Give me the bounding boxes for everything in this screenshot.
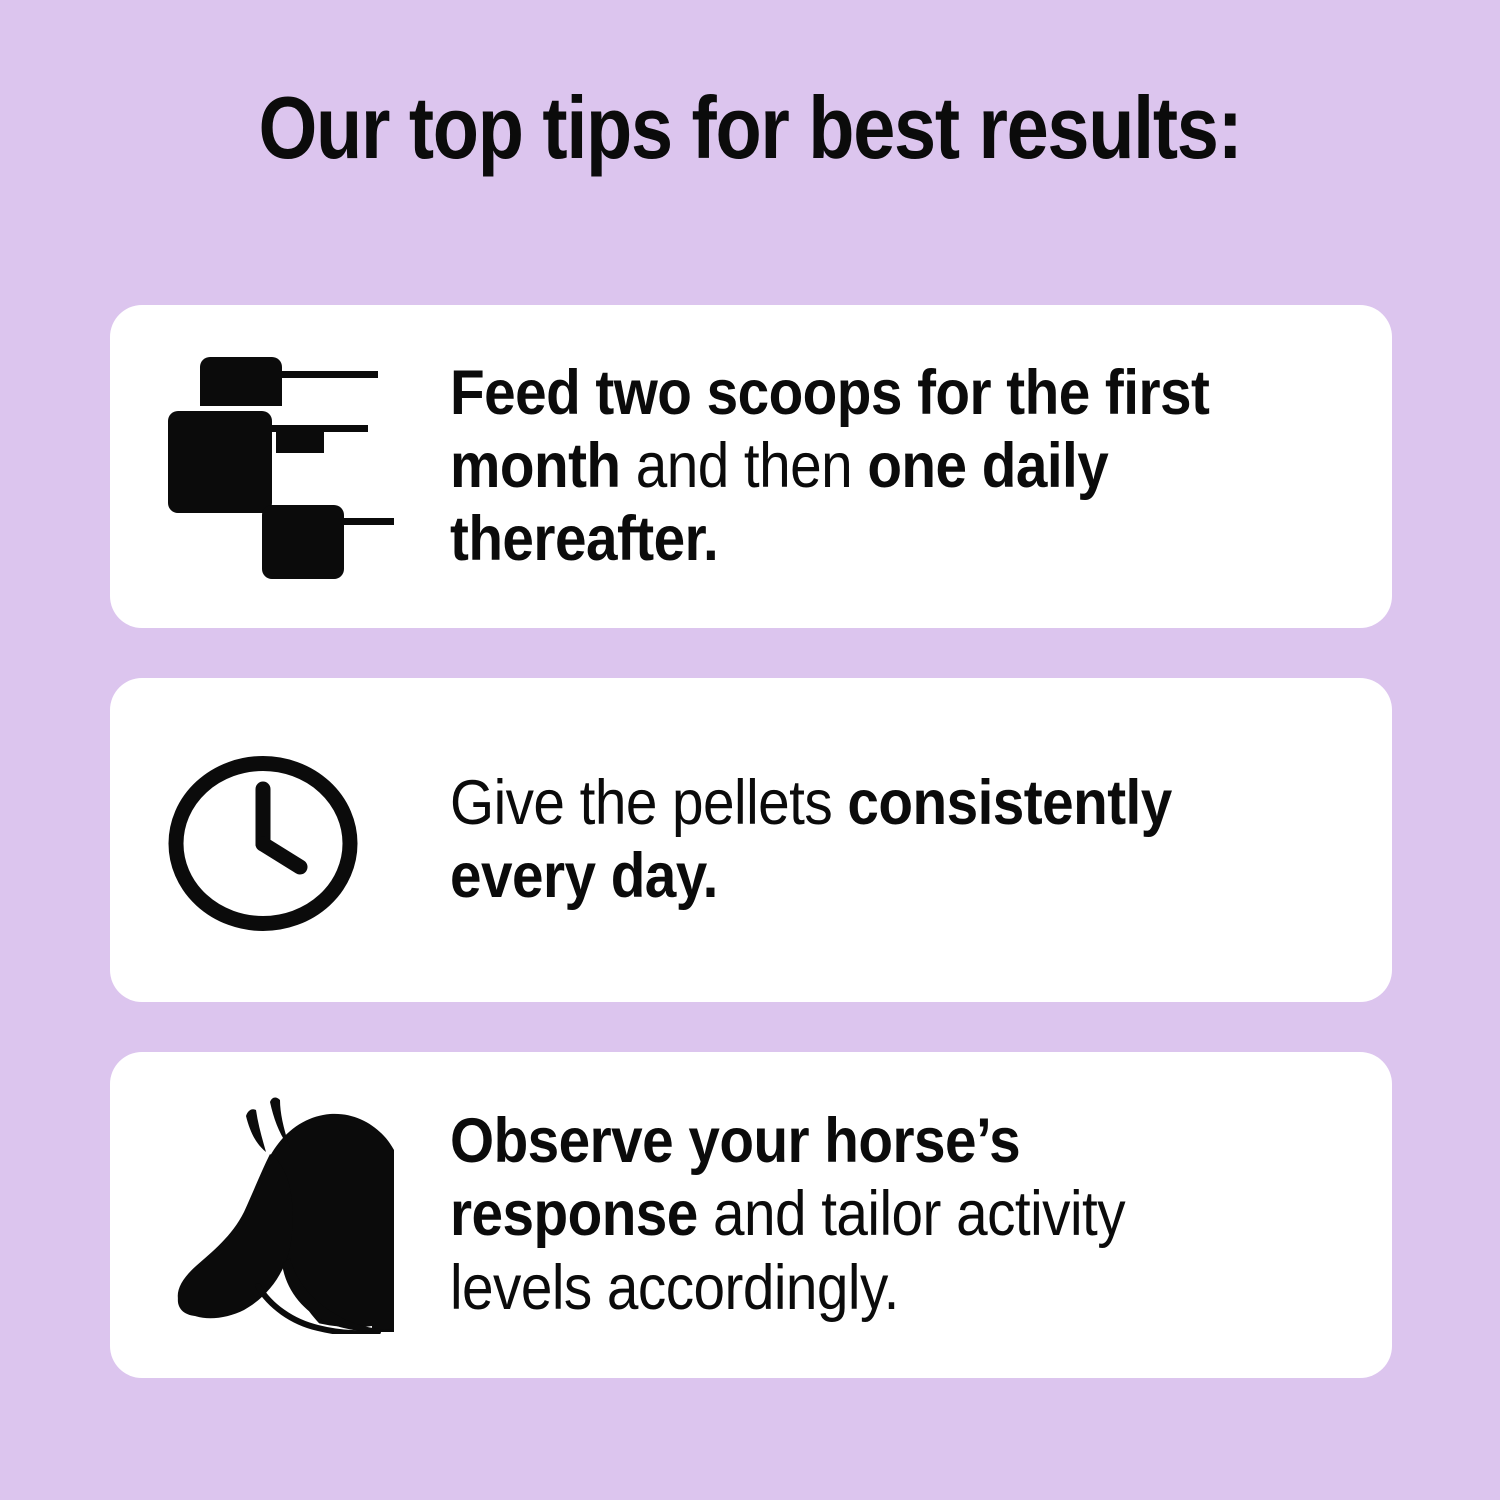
tip-text: Feed two scoops for the first month and … [450, 357, 1298, 576]
tip-text-segment: Give the pellets [450, 768, 847, 838]
clock-icon [168, 756, 358, 931]
tips-list: Feed two scoops for the first month and … [110, 305, 1392, 1378]
tip-icon-slot [110, 305, 450, 628]
tip-text: Give the pellets consistently every day. [450, 767, 1298, 913]
tip-icon-slot [110, 1052, 450, 1378]
tip-text-segment: and then [621, 431, 868, 501]
horse-head-icon [158, 1094, 398, 1334]
tip-card-clock: Give the pellets consistently every day. [110, 678, 1392, 1002]
tip-card-scoops: Feed two scoops for the first month and … [110, 305, 1392, 628]
tip-icon-slot [110, 678, 450, 1002]
scoops-icon [158, 349, 394, 585]
tips-poster: Our top tips for best results: Feed two … [0, 0, 1500, 1500]
page-title: Our top tips for best results: [105, 84, 1395, 172]
tip-card-horse: Observe your horse’s response and tailor… [110, 1052, 1392, 1378]
tip-text: Observe your horse’s response and tailor… [450, 1105, 1298, 1324]
